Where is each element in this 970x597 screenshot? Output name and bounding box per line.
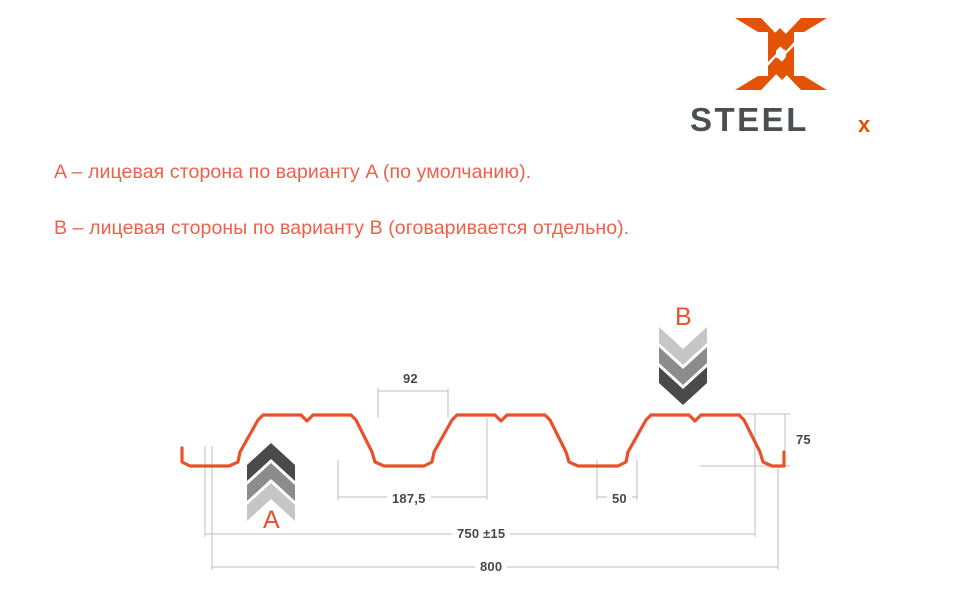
dimension-label-187-5: 187,5 <box>387 491 431 506</box>
marker-a-letter: A <box>263 508 280 533</box>
dimension-label-50: 50 <box>607 491 632 506</box>
profile-technical-drawing <box>0 0 970 597</box>
dimension-label-92: 92 <box>398 371 423 386</box>
marker-b-chevrons <box>659 327 707 405</box>
marker-b-letter: B <box>675 305 692 330</box>
dimension-label-75: 75 <box>791 432 816 447</box>
dimension-label-800: 800 <box>475 559 507 574</box>
dimension-label-750: 750 ±15 <box>452 526 510 541</box>
